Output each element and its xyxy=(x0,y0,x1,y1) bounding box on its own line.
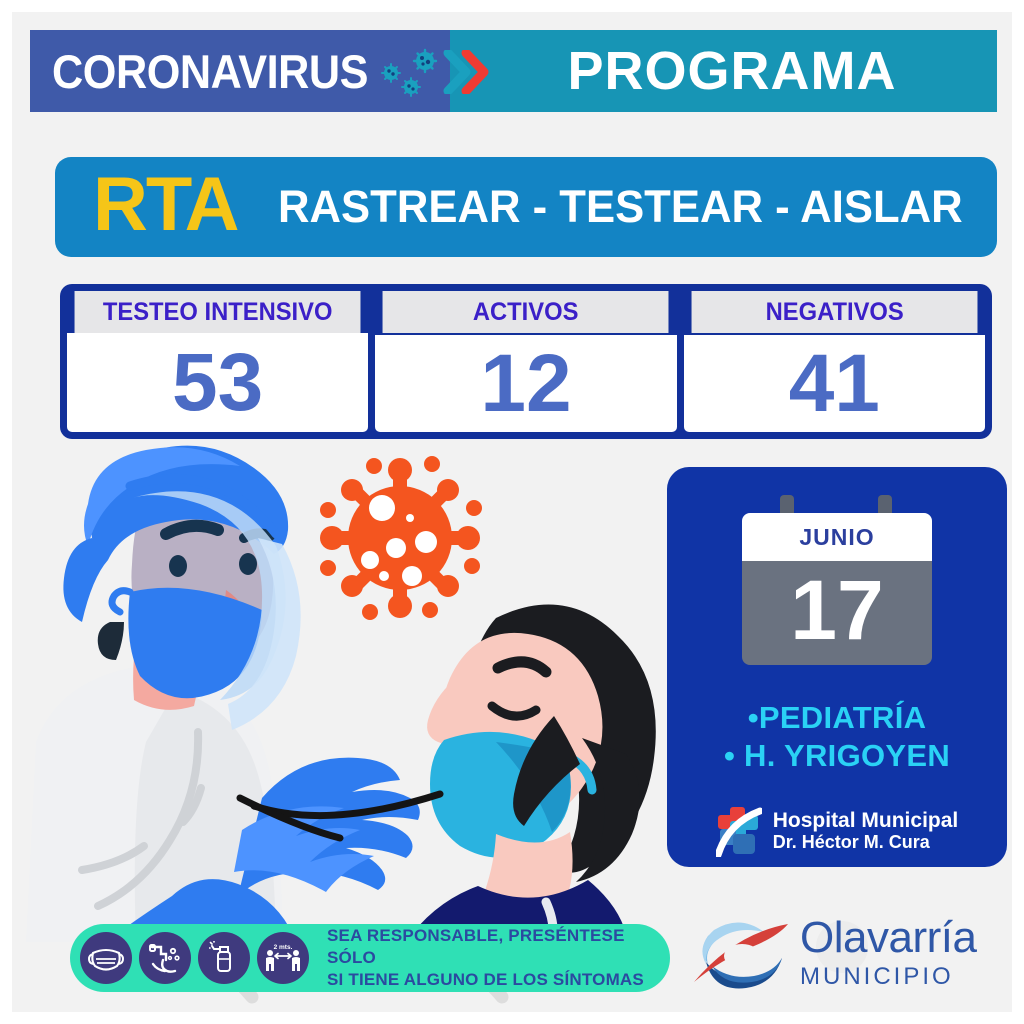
hospital-logo: Hospital Municipal Dr. Héctor M. Cura xyxy=(716,805,959,857)
schedule-panel: JUNIO 17 •PEDIATRÍA • H. YRIGOYEN Hospit… xyxy=(667,467,1007,867)
calendar-body: 17 xyxy=(742,561,932,665)
municipality-name: Olavarría xyxy=(800,916,976,960)
rta-abbreviation: RTA xyxy=(93,167,238,243)
coronavirus-particle-illustration xyxy=(320,456,482,620)
calendar-widget: JUNIO 17 xyxy=(742,495,932,665)
stat-value: 41 xyxy=(684,335,985,432)
calendar-day: 17 xyxy=(790,568,883,652)
header-title: CORONAVIRUS xyxy=(52,30,356,112)
hospital-name: Hospital Municipal Dr. Héctor M. Cura xyxy=(773,809,959,853)
virus-cluster-icon xyxy=(380,46,442,100)
rta-expansion: RASTREAR - TESTEAR - AISLAR xyxy=(278,181,963,233)
hospital-line-1: Hospital Municipal xyxy=(773,809,959,833)
prevention-message-line-2: SI TIENE ALGUNO DE LOS SÍNTOMAS xyxy=(327,969,670,991)
rta-banner: RTA RASTREAR - TESTEAR - AISLAR xyxy=(55,157,997,257)
stat-label: NEGATIVOS xyxy=(691,291,977,333)
handwashing-icon xyxy=(139,932,191,984)
municipality-subtitle: MUNICIPIO xyxy=(800,963,976,991)
stat-cell-activos: ACTIVOS 12 xyxy=(375,291,676,432)
patient-illustration xyxy=(406,605,656,942)
svg-text:2 mts.: 2 mts. xyxy=(274,944,293,951)
stat-label: ACTIVOS xyxy=(383,291,669,333)
location-list: •PEDIATRÍA • H. YRIGOYEN xyxy=(724,699,950,775)
calendar-header: JUNIO xyxy=(742,513,932,561)
sanitizer-spray-icon xyxy=(198,932,250,984)
hospital-line-2: Dr. Héctor M. Cura xyxy=(773,832,959,852)
calendar-month: JUNIO xyxy=(799,524,874,551)
municipality-text: Olavarría MUNICIPIO xyxy=(800,916,976,991)
face-mask-icon xyxy=(80,932,132,984)
olavarria-swoosh-logo-icon xyxy=(692,916,792,990)
stats-table: TESTEO INTENSIVO 53 ACTIVOS 12 NEGATIVOS… xyxy=(60,284,992,439)
municipality-logo: Olavarría MUNICIPIO xyxy=(692,907,992,999)
location-item: •PEDIATRÍA xyxy=(724,699,950,737)
poster: CORONAVIRUS PROGRAMA RTA RASTREAR - TEST… xyxy=(0,0,1024,1024)
chevron-red-icon xyxy=(460,50,490,94)
hospital-cross-logo-icon xyxy=(716,805,762,857)
prevention-message-text: SEA RESPONSABLE, PRESÉNTESE SÓLO SI TIEN… xyxy=(327,925,670,990)
poster-canvas: CORONAVIRUS PROGRAMA RTA RASTREAR - TEST… xyxy=(12,12,1012,1012)
stat-cell-negativos: NEGATIVOS 41 xyxy=(684,291,985,432)
swab-test-illustration xyxy=(26,442,686,942)
social-distancing-icon: 2 mts. xyxy=(257,932,309,984)
location-item: • H. YRIGOYEN xyxy=(724,737,950,775)
prevention-message-bar: 2 mts. SEA RESPONSABLE, PRESÉNTESE SÓLO … xyxy=(70,924,670,992)
stat-label: TESTEO INTENSIVO xyxy=(75,291,361,333)
header-program-label: PROGRAMA xyxy=(532,30,932,112)
prevention-message-line-1: SEA RESPONSABLE, PRESÉNTESE SÓLO xyxy=(327,925,670,969)
stat-value: 53 xyxy=(67,333,368,432)
stat-value: 12 xyxy=(375,335,676,432)
stat-cell-testeo: TESTEO INTENSIVO 53 xyxy=(67,291,368,432)
